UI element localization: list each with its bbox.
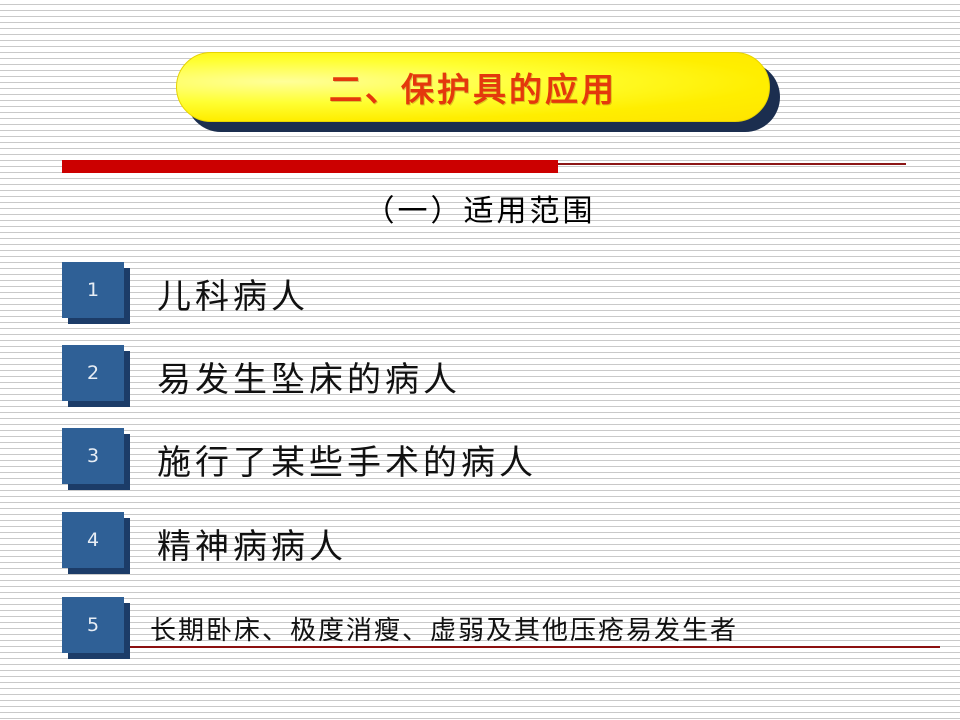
item-number-badge: 1	[62, 262, 132, 324]
item-number-badge: 5	[62, 597, 132, 659]
item-number-badge: 2	[62, 345, 132, 407]
item-number-label: 3	[62, 428, 124, 484]
item-text: 施行了某些手术的病人	[157, 428, 537, 490]
item-text: 儿科病人	[157, 262, 309, 324]
slide-canvas: 二、保护具的应用 （一）适用范围 1 儿科病人 2 易发生坠床的病人 3 施行了…	[0, 0, 960, 720]
bottom-rule	[130, 646, 940, 648]
divider-thin-line	[558, 163, 906, 165]
divider-thick-bar	[62, 160, 558, 173]
title-banner-pill: 二、保护具的应用	[176, 52, 770, 122]
item-text: 长期卧床、极度消瘦、虚弱及其他压疮易发生者	[150, 597, 738, 659]
item-number-label: 2	[62, 345, 124, 401]
item-number-label: 5	[62, 597, 124, 653]
title-banner: 二、保护具的应用	[176, 52, 780, 132]
item-number-label: 4	[62, 512, 124, 568]
item-number-label: 1	[62, 262, 124, 318]
item-text: 易发生坠床的病人	[157, 345, 461, 407]
item-number-badge: 3	[62, 428, 132, 490]
section-subtitle: （一）适用范围	[0, 186, 960, 230]
page-title: 二、保护具的应用	[329, 63, 617, 111]
item-number-badge: 4	[62, 512, 132, 574]
item-text: 精神病病人	[157, 512, 347, 574]
